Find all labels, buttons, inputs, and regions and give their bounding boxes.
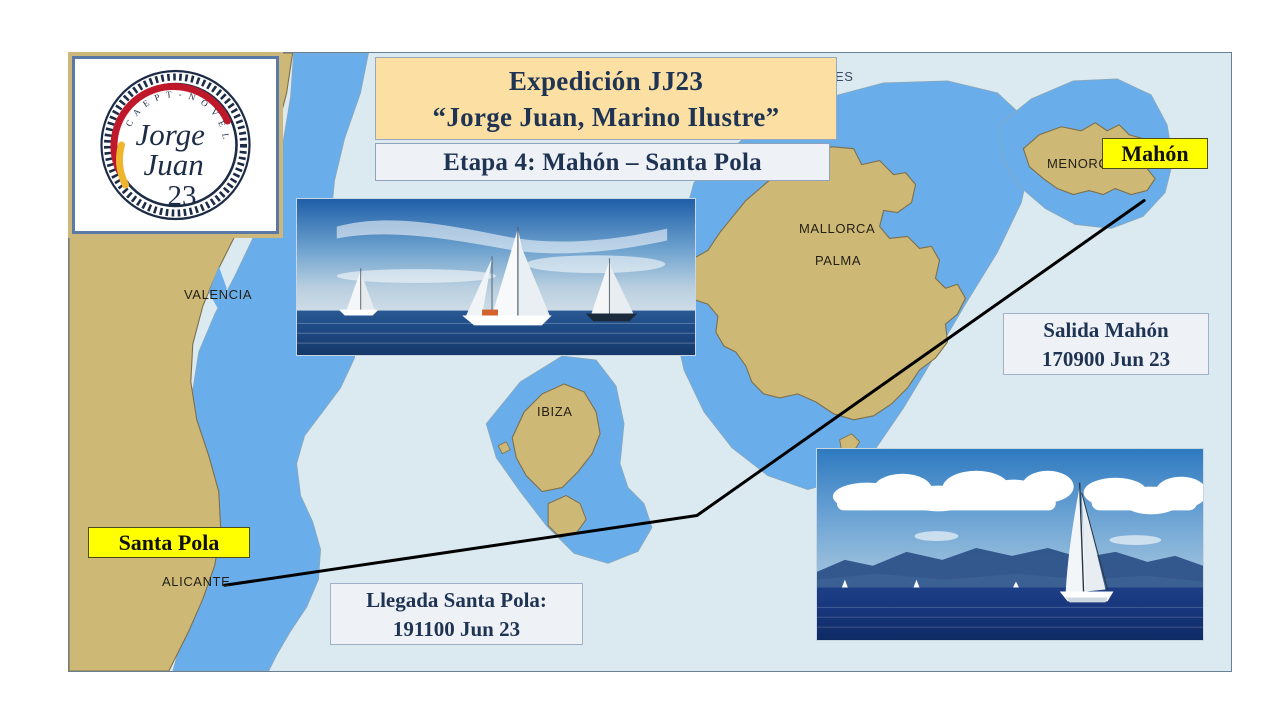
callout-mahon: Mahón bbox=[1102, 138, 1208, 169]
slide-canvas: VALENCIA ALICANTE IBIZA MALLORCA PALMA M… bbox=[0, 0, 1280, 720]
arrival-title: Llegada Santa Pola: bbox=[331, 586, 582, 615]
logo-seal-graphic: C A E P T - N O V E L D A Jorge Juan 23 bbox=[75, 59, 276, 231]
photo-solo bbox=[816, 448, 1204, 641]
departure-datetime: 170900 Jun 23 bbox=[1004, 345, 1208, 374]
photo-solo-graphic bbox=[817, 449, 1203, 640]
stage-title-text: Etapa 4: Mahón – Santa Pola bbox=[443, 149, 762, 176]
logo-script-juan: Juan bbox=[144, 147, 204, 182]
expedition-title-box: Expedición JJ23 “Jorge Juan, Marino Ilus… bbox=[375, 57, 837, 140]
photo-solo-sea bbox=[817, 588, 1203, 640]
logo-number: 23 bbox=[168, 180, 197, 212]
expedition-title-line1: Expedición JJ23 bbox=[376, 63, 836, 99]
callout-mahon-label: Mahón bbox=[1121, 141, 1188, 166]
stage-title-box: Etapa 4: Mahón – Santa Pola bbox=[375, 143, 830, 181]
photo-fleet bbox=[296, 198, 696, 356]
departure-title: Salida Mahón bbox=[1004, 316, 1208, 345]
photo-fleet-graphic bbox=[297, 199, 695, 355]
expedition-title-line2: “Jorge Juan, Marino Ilustre” bbox=[376, 99, 836, 135]
arrival-info-box: Llegada Santa Pola: 191100 Jun 23 bbox=[330, 583, 583, 645]
expedition-logo: C A E P T - N O V E L D A Jorge Juan 23 bbox=[72, 56, 279, 234]
arrival-datetime: 191100 Jun 23 bbox=[331, 615, 582, 644]
callout-santa-pola: Santa Pola bbox=[88, 527, 250, 558]
photo-solo-far-shore bbox=[817, 574, 1203, 590]
callout-santa-pola-label: Santa Pola bbox=[119, 530, 220, 555]
logo-gold-arc bbox=[120, 145, 126, 185]
departure-info-box: Salida Mahón 170900 Jun 23 bbox=[1003, 313, 1209, 375]
